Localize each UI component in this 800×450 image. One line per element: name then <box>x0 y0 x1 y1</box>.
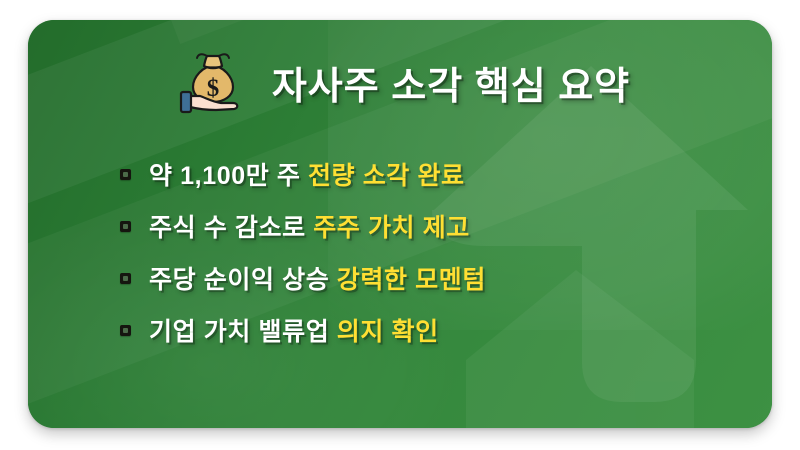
page-title: 자사주 소각 핵심 요약 <box>272 55 630 110</box>
list-item-text: 주당 순이익 상승강력한 모멘텀 <box>149 260 486 296</box>
square-bullet-icon <box>120 325 131 336</box>
summary-card: $ 자사주 소각 핵심 요약 약 1,100만 주전량 소각 완료 주식 수 감… <box>28 20 772 428</box>
list-item-text: 주식 수 감소로주주 가치 제고 <box>149 208 470 244</box>
square-bullet-icon <box>120 169 131 180</box>
square-bullet-icon <box>120 221 131 232</box>
list-item-text: 기업 가치 밸류업의지 확인 <box>149 312 439 348</box>
list-item: 기업 가치 밸류업의지 확인 <box>120 304 740 356</box>
bullet-list: 약 1,100만 주전량 소각 완료 주식 수 감소로주주 가치 제고 주당 순… <box>120 148 740 356</box>
list-item-text: 약 1,100만 주전량 소각 완료 <box>149 156 465 192</box>
list-item: 주당 순이익 상승강력한 모멘텀 <box>120 252 740 304</box>
list-item: 주식 수 감소로주주 가치 제고 <box>120 200 740 252</box>
money-bag-in-hand-icon: $ <box>176 46 250 120</box>
square-bullet-icon <box>120 273 131 284</box>
screenshot-stage: $ 자사주 소각 핵심 요약 약 1,100만 주전량 소각 완료 주식 수 감… <box>0 0 800 450</box>
list-item: 약 1,100만 주전량 소각 완료 <box>120 148 740 200</box>
svg-text:$: $ <box>207 75 220 102</box>
card-header: $ 자사주 소각 핵심 요약 <box>28 36 772 128</box>
